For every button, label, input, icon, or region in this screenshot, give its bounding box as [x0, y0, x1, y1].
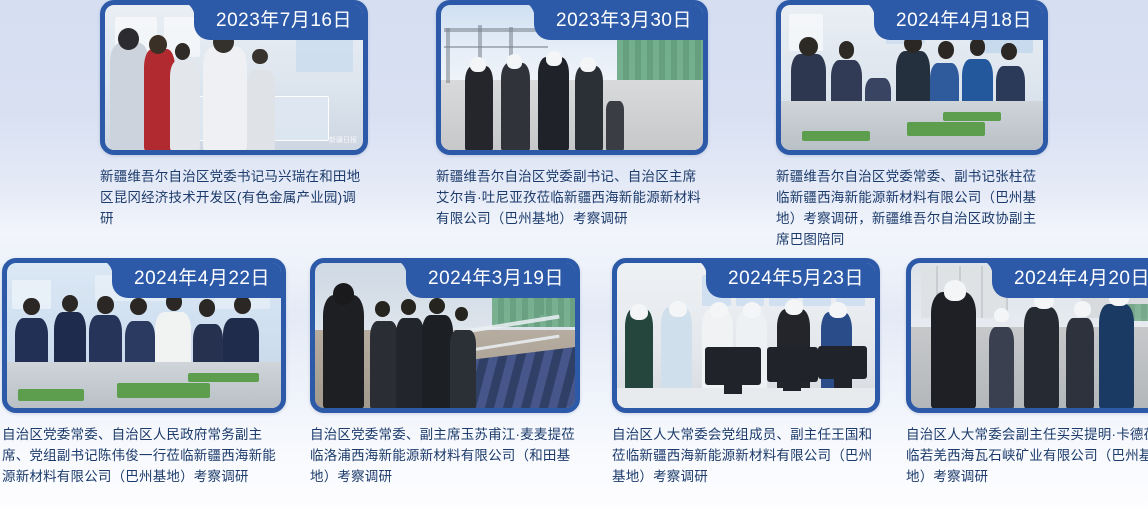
card-caption: 自治区人大常委会副主任买买提明·卡德莅临若羌西海瓦石峡矿业有限公司（巴州基地）考… — [906, 424, 1148, 487]
gallery-card-3[interactable]: 2024年4月18日 新疆维吾尔自治区党委常委、副书记张柱莅临新疆西海新能源新材… — [776, 0, 1048, 250]
card-date-badge: 2023年7月16日 — [194, 0, 368, 40]
card-caption: 自治区党委常委、副主席玉苏甫江·麦麦提莅临洛浦西海新能源新材料有限公司（和田基地… — [310, 424, 576, 487]
card-photo-frame: 2024年3月19日 — [310, 258, 580, 413]
gallery-card-6[interactable]: 2024年5月23日 自治区人大常委会党组成员、副主任王国和莅临新疆西海新能源新… — [612, 258, 880, 487]
card-photo-frame: 2024年4月20日 — [906, 258, 1148, 413]
card-caption: 自治区党委常委、自治区人民政府常务副主席、党组副书记陈伟俊一行莅临新疆西海新能源… — [2, 424, 282, 487]
card-photo-frame: 2024年5月23日 — [612, 258, 880, 413]
gallery-card-1[interactable]: 新疆日报 2023年7月16日 新疆维吾尔自治区党委书记马兴瑞在和田地区昆冈经济… — [100, 0, 368, 250]
card-caption: 新疆维吾尔自治区党委常委、副书记张柱莅临新疆西海新能源新材料有限公司（巴州基地）… — [776, 166, 1044, 250]
card-photo-frame: 2023年3月30日 — [436, 0, 708, 155]
gallery-card-5[interactable]: 2024年3月19日 自治区党委常委、副主席玉苏甫江·麦麦提莅临洛浦西海新能源新… — [310, 258, 580, 487]
gallery-card-7[interactable]: 2024年4月20日 自治区人大常委会副主任买买提明·卡德莅临若羌西海瓦石峡矿业… — [906, 258, 1148, 487]
card-caption: 新疆维吾尔自治区党委书记马兴瑞在和田地区昆冈经济技术开发区(有色金属产业园)调研 — [100, 166, 362, 229]
gallery-row-2: 2024年4月22日 自治区党委常委、自治区人民政府常务副主席、党组副书记陈伟俊… — [0, 258, 1148, 487]
card-date-badge: 2024年4月20日 — [992, 258, 1148, 298]
photo-gallery-board: 新疆日报 2023年7月16日 新疆维吾尔自治区党委书记马兴瑞在和田地区昆冈经济… — [0, 0, 1148, 508]
gallery-row-1: 新疆日报 2023年7月16日 新疆维吾尔自治区党委书记马兴瑞在和田地区昆冈经济… — [0, 0, 1148, 250]
card-photo-frame: 新疆日报 2023年7月16日 — [100, 0, 368, 155]
card-date-badge: 2024年3月19日 — [406, 258, 580, 298]
card-caption: 自治区人大常委会党组成员、副主任王国和莅临新疆西海新能源新材料有限公司（巴州基地… — [612, 424, 876, 487]
photo-watermark: 新疆日报 — [329, 135, 357, 145]
gallery-card-2[interactable]: 2023年3月30日 新疆维吾尔自治区党委副书记、自治区主席艾尔肯·吐尼亚孜莅临… — [436, 0, 708, 250]
card-date-badge: 2024年4月18日 — [874, 0, 1048, 40]
card-date-badge: 2024年5月23日 — [706, 258, 880, 298]
card-photo-frame: 2024年4月18日 — [776, 0, 1048, 155]
card-caption: 新疆维吾尔自治区党委副书记、自治区主席艾尔肯·吐尼亚孜莅临新疆西海新能源新材料有… — [436, 166, 702, 229]
gallery-card-4[interactable]: 2024年4月22日 自治区党委常委、自治区人民政府常务副主席、党组副书记陈伟俊… — [2, 258, 286, 487]
card-photo-frame: 2024年4月22日 — [2, 258, 286, 413]
card-date-badge: 2023年3月30日 — [534, 0, 708, 40]
card-date-badge: 2024年4月22日 — [112, 258, 286, 298]
